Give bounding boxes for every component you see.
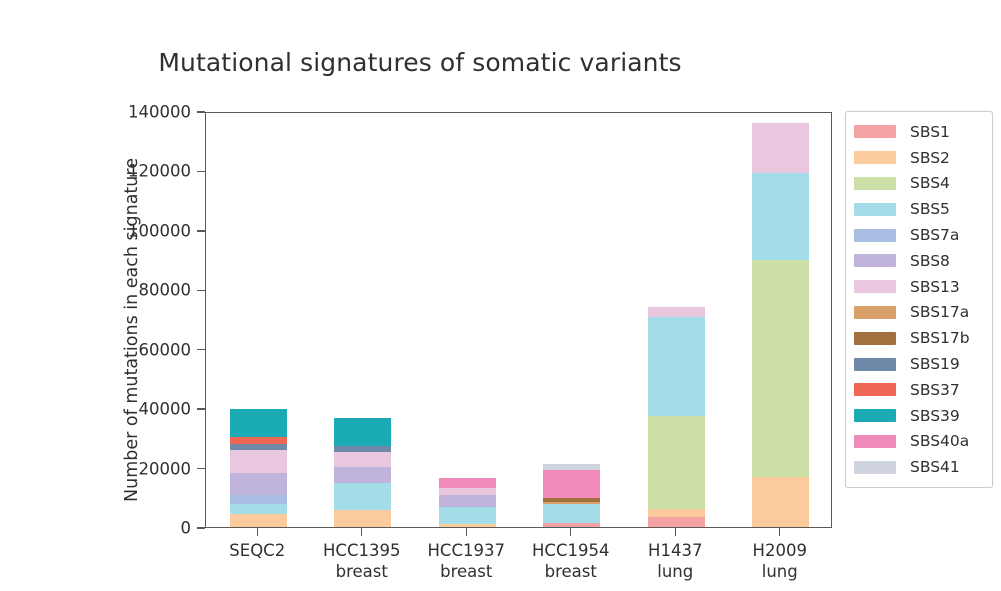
x-axis-tick-label-line2: lung xyxy=(648,561,702,582)
legend-label: SBS4 xyxy=(910,174,950,192)
bar-stack[interactable] xyxy=(439,111,496,527)
legend-swatch-icon xyxy=(854,229,896,242)
x-axis-tick xyxy=(570,528,571,536)
x-axis-tick xyxy=(675,528,676,536)
bar-segment-sbs2[interactable] xyxy=(648,509,705,517)
bar-stack[interactable] xyxy=(230,111,287,527)
legend-swatch-icon xyxy=(854,383,896,396)
legend-item-sbs37[interactable]: SBS37 xyxy=(854,377,984,403)
x-axis-tick-label-line2: breast xyxy=(428,561,505,582)
y-axis-tick xyxy=(197,290,205,291)
bar-stack[interactable] xyxy=(752,111,809,527)
bar-segment-sbs39[interactable] xyxy=(230,409,287,437)
bar-segment-sbs37[interactable] xyxy=(230,437,287,444)
bar-segment-sbs13[interactable] xyxy=(648,307,705,317)
legend-label: SBS39 xyxy=(910,407,960,425)
x-axis-tick-label-line1: HCC1937 xyxy=(428,541,505,560)
y-axis-tick-label: 60000 xyxy=(139,340,196,359)
bar-segment-sbs5[interactable] xyxy=(334,483,391,510)
legend-item-sbs41[interactable]: SBS41 xyxy=(854,454,984,480)
bars-container xyxy=(206,113,831,527)
legend-swatch-icon xyxy=(854,280,896,293)
bar-segment-sbs17b[interactable] xyxy=(543,498,600,502)
legend-swatch-icon xyxy=(854,254,896,267)
legend-label: SBS19 xyxy=(910,355,960,373)
legend-item-sbs17a[interactable]: SBS17a xyxy=(854,300,984,326)
bar-segment-sbs4[interactable] xyxy=(648,416,705,509)
x-axis-tick xyxy=(257,528,258,536)
legend-item-sbs5[interactable]: SBS5 xyxy=(854,196,984,222)
legend-label: SBS8 xyxy=(910,252,950,270)
chart-figure: Mutational signatures of somatic variant… xyxy=(0,0,1001,591)
bar-segment-sbs19[interactable] xyxy=(334,446,391,452)
bar-segment-sbs13[interactable] xyxy=(230,450,287,472)
x-axis-tick-label-line1: H1437 xyxy=(648,541,702,560)
bar-segment-sbs5[interactable] xyxy=(230,504,287,514)
x-axis-tick-label-line2: breast xyxy=(532,561,609,582)
x-axis-tick-label: HCC1954breast xyxy=(532,540,609,582)
legend-swatch-icon xyxy=(854,409,896,422)
legend-item-sbs8[interactable]: SBS8 xyxy=(854,248,984,274)
x-axis-tick-label-line2: lung xyxy=(753,561,807,582)
bar-segment-sbs2[interactable] xyxy=(439,524,496,527)
legend-item-sbs2[interactable]: SBS2 xyxy=(854,145,984,171)
y-axis-tick-label: 140000 xyxy=(128,103,195,122)
y-axis-tick-label: 0 xyxy=(181,519,196,538)
legend-item-sbs17b[interactable]: SBS17b xyxy=(854,325,984,351)
legend-label: SBS41 xyxy=(910,458,960,476)
bar-segment-sbs19[interactable] xyxy=(230,444,287,451)
y-axis-tick xyxy=(197,230,205,231)
bar-segment-sbs5[interactable] xyxy=(543,504,600,524)
legend-swatch-icon xyxy=(854,203,896,216)
bar-segment-sbs8[interactable] xyxy=(334,467,391,483)
legend-label: SBS37 xyxy=(910,381,960,399)
bar-segment-sbs39[interactable] xyxy=(334,418,391,445)
bar-stack[interactable] xyxy=(334,111,391,527)
legend-swatch-icon xyxy=(854,358,896,371)
legend-swatch-icon xyxy=(854,461,896,474)
x-axis-tick-label: H1437lung xyxy=(648,540,702,582)
y-axis-tick-label: 20000 xyxy=(139,459,196,478)
bar-segment-sbs41[interactable] xyxy=(543,464,600,470)
legend-swatch-icon xyxy=(854,151,896,164)
bar-segment-sbs7a[interactable] xyxy=(230,495,287,504)
legend-item-sbs1[interactable]: SBS1 xyxy=(854,119,984,145)
bar-segment-sbs8[interactable] xyxy=(230,473,287,496)
legend-label: SBS5 xyxy=(910,200,950,218)
y-axis-tick xyxy=(197,171,205,172)
y-axis-tick-label: 100000 xyxy=(128,221,195,240)
bar-segment-sbs40a[interactable] xyxy=(543,470,600,498)
y-axis-tick xyxy=(197,527,205,528)
legend-swatch-icon xyxy=(854,332,896,345)
legend-label: SBS7a xyxy=(910,226,959,244)
legend-label: SBS1 xyxy=(910,123,950,141)
legend-label: SBS17a xyxy=(910,303,969,321)
bar-segment-sbs13[interactable] xyxy=(334,452,391,467)
y-axis-tick xyxy=(197,408,205,409)
bar-segment-sbs2[interactable] xyxy=(334,510,391,527)
bar-segment-sbs40a[interactable] xyxy=(439,478,496,489)
legend-item-sbs40a[interactable]: SBS40a xyxy=(854,429,984,455)
x-axis-tick-label-line2: breast xyxy=(323,561,400,582)
legend-item-sbs19[interactable]: SBS19 xyxy=(854,351,984,377)
legend-swatch-icon xyxy=(854,435,896,448)
legend-label: SBS17b xyxy=(910,329,970,347)
bar-stack[interactable] xyxy=(543,111,600,527)
x-axis-tick-label-line1: HCC1954 xyxy=(532,541,609,560)
x-axis-tick-label: H2009lung xyxy=(753,540,807,582)
legend-swatch-icon xyxy=(854,306,896,319)
bar-segment-sbs2[interactable] xyxy=(752,477,809,528)
legend: SBS1SBS2SBS4SBS5SBS7aSBS8SBS13SBS17aSBS1… xyxy=(845,111,993,488)
y-axis-tick-label: 80000 xyxy=(139,281,196,300)
legend-item-sbs13[interactable]: SBS13 xyxy=(854,274,984,300)
legend-label: SBS2 xyxy=(910,149,950,167)
legend-swatch-icon xyxy=(854,125,896,138)
bar-segment-sbs4[interactable] xyxy=(752,260,809,477)
x-axis-tick-label-line1: SEQC2 xyxy=(229,541,285,560)
x-axis-tick xyxy=(779,528,780,536)
legend-item-sbs39[interactable]: SBS39 xyxy=(854,403,984,429)
bar-segment-sbs17a[interactable] xyxy=(543,502,600,504)
legend-label: SBS13 xyxy=(910,278,960,296)
bar-segment-sbs5[interactable] xyxy=(752,173,809,259)
legend-swatch-icon xyxy=(854,177,896,190)
x-axis-tick-label: HCC1937breast xyxy=(428,540,505,582)
x-axis-tick xyxy=(466,528,467,536)
bar-segment-sbs2[interactable] xyxy=(230,514,287,527)
x-axis-tick-label: SEQC2 xyxy=(229,540,285,561)
x-axis-tick-label-line1: H2009 xyxy=(753,541,807,560)
y-axis-tick-labels: 020000400006000080000100000120000140000 xyxy=(60,0,195,591)
plot-area xyxy=(205,112,832,528)
bar-segment-sbs5[interactable] xyxy=(648,317,705,416)
x-axis-tick xyxy=(361,528,362,536)
x-axis-tick-label-line1: HCC1395 xyxy=(323,541,400,560)
y-axis-tick xyxy=(197,468,205,469)
bar-segment-sbs8[interactable] xyxy=(439,495,496,507)
bar-segment-sbs13[interactable] xyxy=(439,488,496,495)
bar-segment-sbs1[interactable] xyxy=(543,523,600,527)
legend-item-sbs7a[interactable]: SBS7a xyxy=(854,222,984,248)
y-axis-tick-label: 120000 xyxy=(128,162,195,181)
y-axis-tick xyxy=(197,349,205,350)
bar-segment-sbs1[interactable] xyxy=(648,517,705,527)
bar-stack[interactable] xyxy=(648,111,705,527)
y-axis-tick-label: 40000 xyxy=(139,400,196,419)
bar-segment-sbs5[interactable] xyxy=(439,507,496,524)
bar-segment-sbs13[interactable] xyxy=(752,123,809,174)
legend-item-sbs4[interactable]: SBS4 xyxy=(854,171,984,197)
x-axis-tick-label: HCC1395breast xyxy=(323,540,400,582)
legend-label: SBS40a xyxy=(910,432,969,450)
y-axis-tick xyxy=(197,111,205,112)
